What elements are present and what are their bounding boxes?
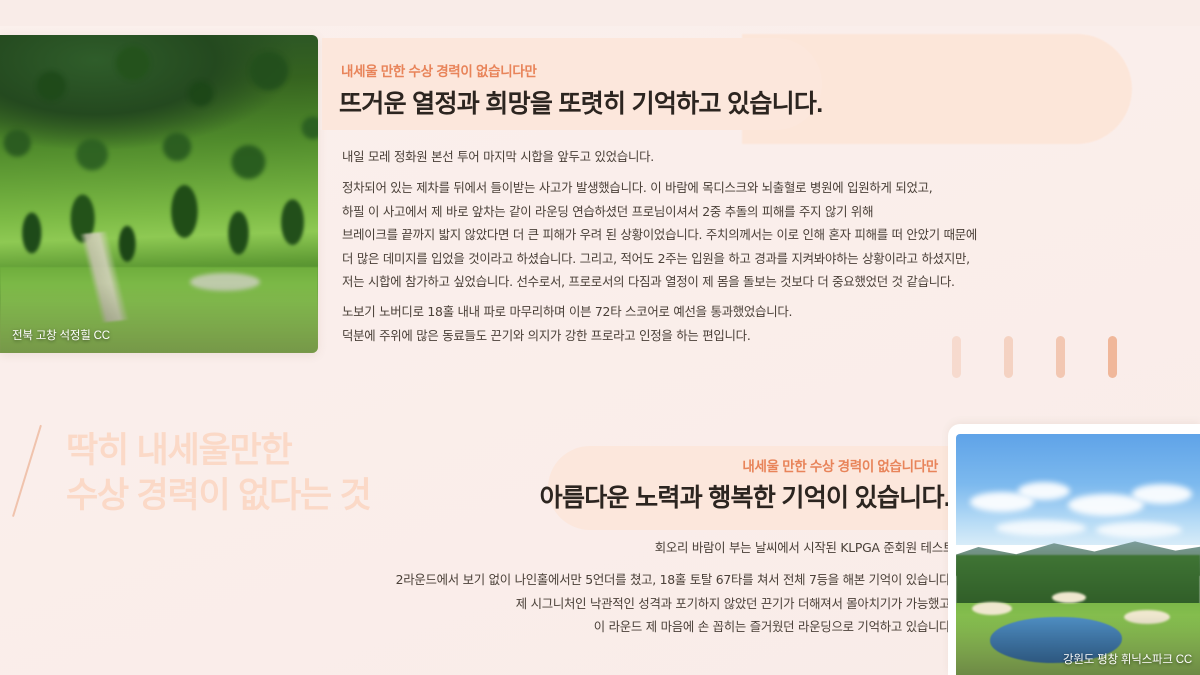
bottom-paragraph-1: 회오리 바람이 부는 날씨에서 시작된 KLPGA 준회원 테스트 <box>655 536 954 560</box>
paragraph-line: 내일 모레 정화원 본선 투어 마지막 시합을 앞두고 있었습니다. <box>342 145 654 169</box>
paragraph-line: 노보기 노버디로 18홀 내내 파로 마무리하며 이븐 72타 스코어로 예선을… <box>342 300 792 324</box>
bottom-headline-text: 아름다운 노력과 행복한 기억이 있습니다. <box>540 478 950 514</box>
paragraph-line: 이 라운드 제 마음에 손 꼽히는 즐거웠던 라운딩으로 기억하고 있습니다. <box>396 615 954 639</box>
cloud-icon <box>996 520 1086 536</box>
top-kicker-text: 내세울 만한 수상 경력이 없습니다만 <box>341 60 537 80</box>
paragraph-line: 2라운드에서 보기 없이 나인홀에서만 5언더를 쳤고, 18홀 토탈 67타를… <box>396 568 954 592</box>
decorative-bar <box>1056 336 1065 378</box>
decorative-bar <box>1108 336 1117 378</box>
photo-top-caption: 전북 고창 석정힐 CC <box>12 327 110 343</box>
bottom-big-headline-line2: 수상 경력이 없다는 것 <box>66 473 371 518</box>
paragraph-line: 브레이크를 끝까지 밟지 않았다면 더 큰 피해가 우려 된 상황이었습니다. … <box>342 223 977 247</box>
photo-bottom-bunker <box>1052 592 1086 603</box>
cloud-icon <box>1132 484 1192 504</box>
slide-canvas: 전북 고창 석정힐 CC 내세울 만한 수상 경력이 없습니다만 뜨거운 열정과… <box>0 0 1200 675</box>
paragraph-line: 저는 시합에 참가하고 싶었습니다. 선수로서, 프로로서의 다짐과 열정이 제… <box>342 270 977 294</box>
photo-bottom-caption: 강원도 평창 휘닉스파크 CC <box>1063 651 1192 667</box>
paragraph-line: 덕분에 주위에 많은 동료들도 끈기와 의지가 강한 프로라고 인정을 하는 편… <box>342 324 792 348</box>
golf-course-photo-bottom: 강원도 평창 휘닉스파크 CC <box>956 434 1200 675</box>
decorative-bar <box>1004 336 1013 378</box>
bottom-kicker-text: 내세울 만한 수상 경력이 없습니다만 <box>742 455 938 475</box>
cloud-icon <box>1018 482 1070 500</box>
background-top-strip <box>0 0 1200 26</box>
paragraph-line: 정차되어 있는 제차를 뒤에서 들이받는 사고가 발생했습니다. 이 바람에 목… <box>342 176 977 200</box>
top-paragraph-3: 노보기 노버디로 18홀 내내 파로 마무리하며 이븐 72타 스코어로 예선을… <box>342 300 792 347</box>
decorative-bars <box>952 336 1182 378</box>
bottom-big-headline: 딱히 내세울만한 수상 경력이 없다는 것 <box>66 428 371 518</box>
decorative-bar <box>952 336 961 378</box>
cloud-icon <box>1096 522 1182 538</box>
top-paragraph-1: 내일 모레 정화원 본선 투어 마지막 시합을 앞두고 있었습니다. <box>342 145 654 169</box>
paragraph-line: 더 많은 데미지를 입었을 것이라고 하셨습니다. 그리고, 적어도 2주는 입… <box>342 247 977 271</box>
paragraph-line: 하필 이 사고에서 제 바로 앞차는 같이 라운딩 연습하셨던 프로님이셔서 2… <box>342 200 977 224</box>
top-headline-text: 뜨거운 열정과 희망을 또렷히 기억하고 있습니다. <box>339 84 822 120</box>
paragraph-line: 회오리 바람이 부는 날씨에서 시작된 KLPGA 준회원 테스트 <box>655 536 954 560</box>
bottom-big-headline-line1: 딱히 내세울만한 <box>66 428 371 473</box>
diagonal-accent-line <box>12 425 42 517</box>
top-paragraph-2: 정차되어 있는 제차를 뒤에서 들이받는 사고가 발생했습니다. 이 바람에 목… <box>342 176 977 294</box>
photo-bottom-bunker <box>972 602 1012 615</box>
cloud-icon <box>1068 494 1144 516</box>
golf-course-photo-top: 전북 고창 석정힐 CC <box>0 35 318 353</box>
paragraph-line: 제 시그니처인 낙관적인 성격과 포기하지 않았던 끈기가 더해져서 몰아치기가… <box>396 592 954 616</box>
bottom-paragraph-2: 2라운드에서 보기 없이 나인홀에서만 5언더를 쳤고, 18홀 토탈 67타를… <box>396 568 954 639</box>
